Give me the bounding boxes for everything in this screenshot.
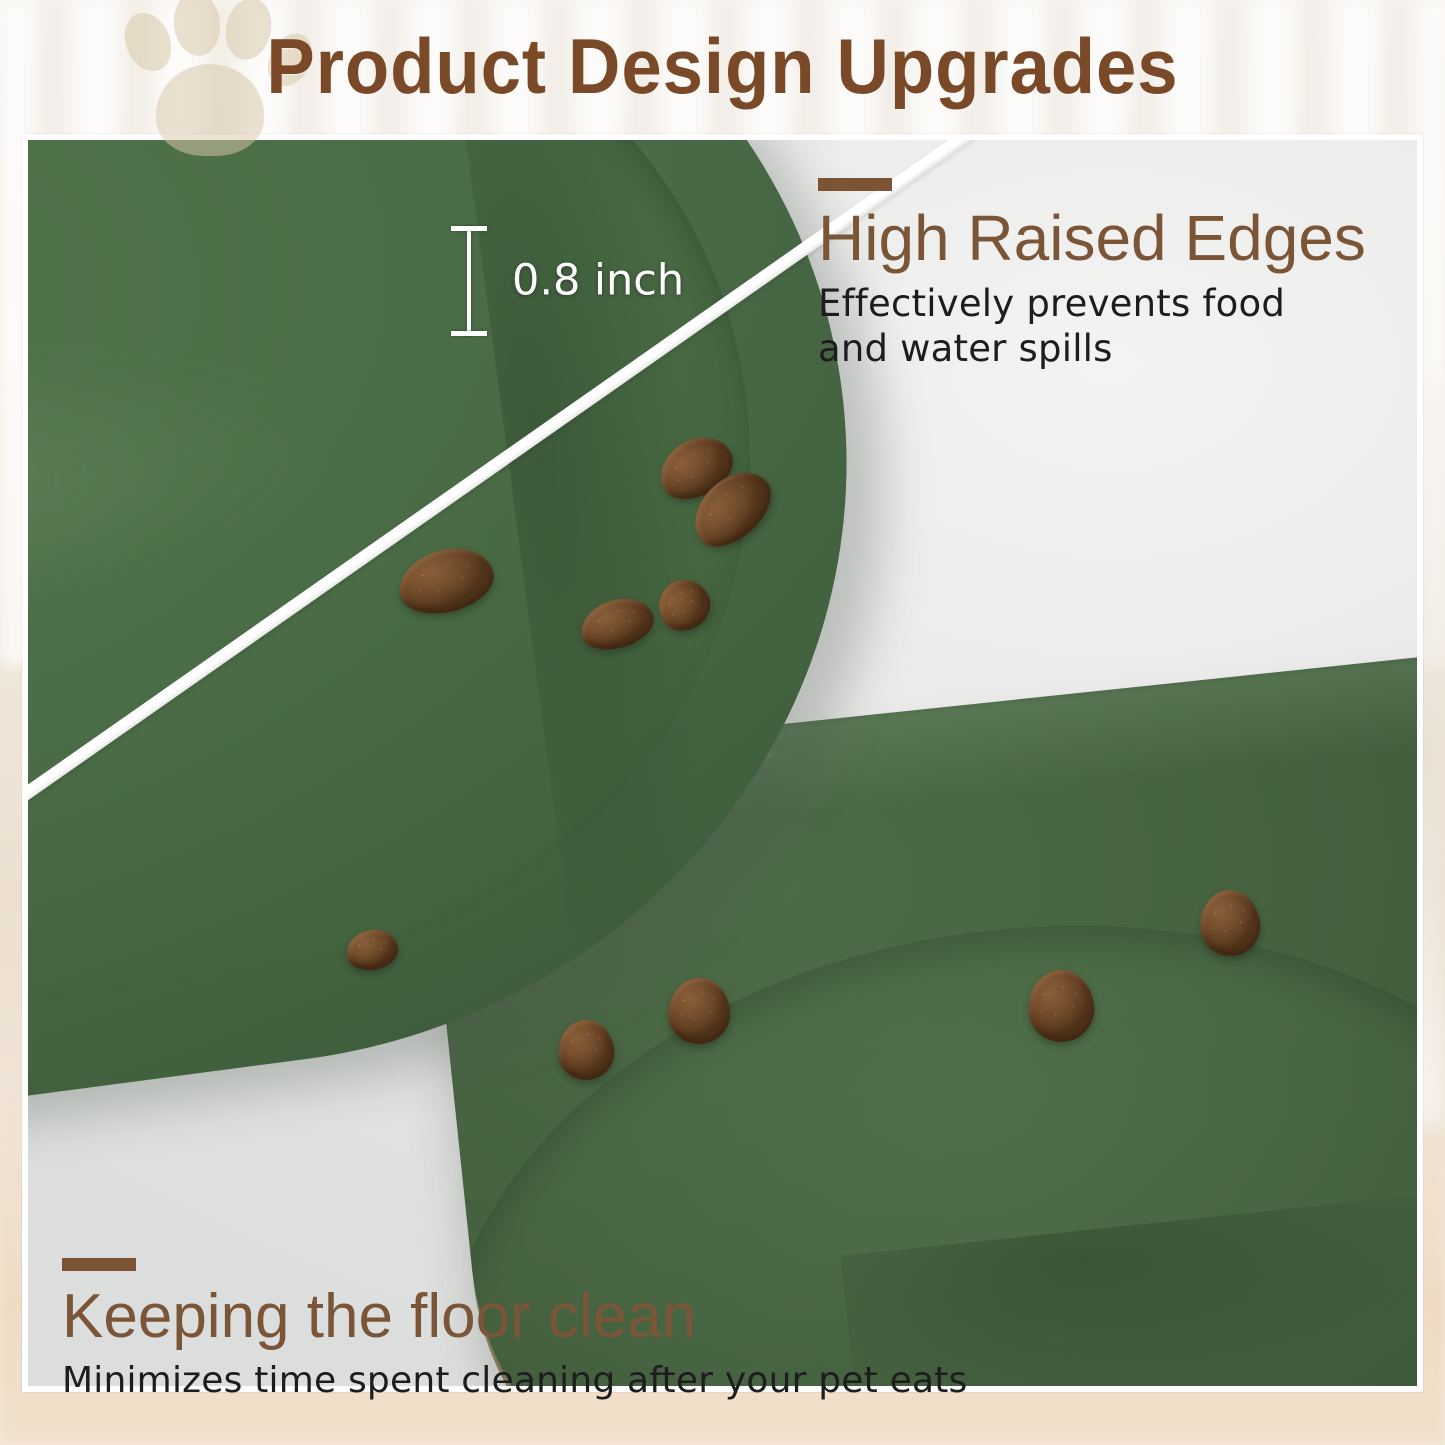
header: Product Design Upgrades	[0, 0, 1445, 132]
callout-keeping-floor-clean: Keeping the floor clean Minimizes time s…	[62, 1258, 967, 1403]
callout-high-raised-edges: High Raised Edges Effectively prevents f…	[818, 178, 1366, 371]
callout-heading: High Raised Edges	[818, 204, 1366, 273]
accent-bar-icon	[62, 1258, 136, 1271]
dimension-line	[467, 226, 471, 336]
callout-body-line2: and water spills	[818, 326, 1366, 371]
callout-body-line1: Minimizes time spent cleaning after your…	[62, 1359, 967, 1403]
page-title: Product Design Upgrades	[51, 18, 1395, 114]
callout-body-line1: Effectively prevents food	[818, 281, 1366, 326]
dimension-cap-top	[451, 226, 487, 231]
product-marketing-image: Product Design Upgrades smilool	[0, 0, 1445, 1445]
dimension-label: 0.8 inch	[512, 260, 684, 303]
callout-heading: Keeping the floor clean	[62, 1284, 967, 1351]
dimension-cap-bottom	[451, 331, 487, 336]
accent-bar-icon	[818, 178, 892, 191]
dimension-annotation	[447, 226, 491, 336]
